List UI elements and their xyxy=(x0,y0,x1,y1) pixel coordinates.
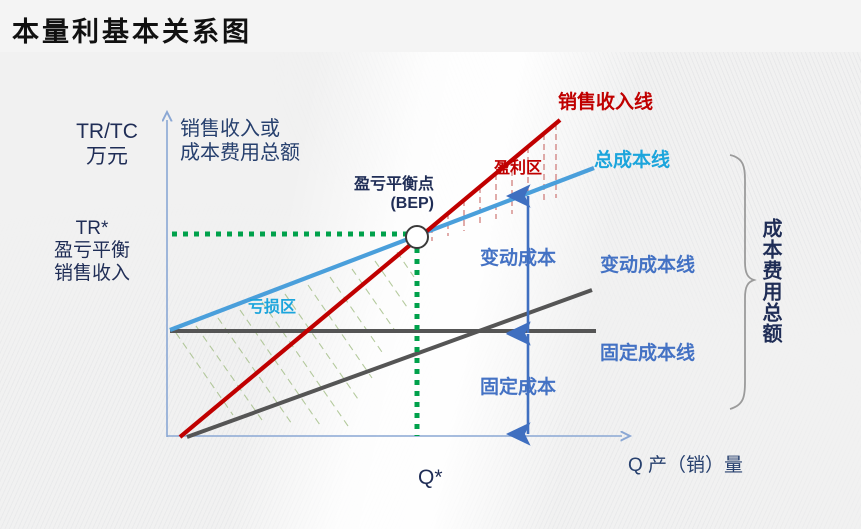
chart-canvas: 本量利基本关系图 xyxy=(0,0,861,529)
y-axis-title-line2: 成本费用总额 xyxy=(180,142,300,166)
cost-total-brace xyxy=(730,155,754,409)
y-axis-breakeven-line3: 销售收入 xyxy=(30,263,154,285)
cost-total-bracket-label: 成本费用总额 xyxy=(760,218,780,344)
bep-annotation-line1: 盈亏平衡点 xyxy=(330,176,434,195)
y-axis-breakeven-line2: 盈亏平衡 xyxy=(30,240,154,262)
revenue-line-label: 销售收入线 xyxy=(558,92,653,114)
y-axis-breakeven-label: TR* 盈亏平衡 销售收入 xyxy=(30,218,154,285)
bep-point-marker xyxy=(406,226,428,248)
profit-zone-label: 盈利区 xyxy=(494,160,542,179)
bep-annotation: 盈亏平衡点 (BEP) xyxy=(330,176,434,214)
fixed-cost-measure-label: 固定成本 xyxy=(480,377,556,399)
y-axis-breakeven-line1: TR* xyxy=(30,218,154,240)
bep-annotation-line2: (BEP) xyxy=(330,195,434,214)
x-axis-title: Q 产（销）量 xyxy=(628,455,743,477)
y-axis-title: 销售收入或 成本费用总额 xyxy=(180,118,300,165)
fixed-cost-line-label: 固定成本线 xyxy=(600,343,695,365)
variable-cost-line-label: 变动成本线 xyxy=(600,255,695,277)
y-axis-title-line1: 销售收入或 xyxy=(180,118,300,142)
loss-zone-label: 亏损区 xyxy=(248,299,296,318)
y-axis-unit-line2: 万元 xyxy=(62,145,152,170)
x-axis-breakeven-label: Q* xyxy=(418,466,443,491)
y-axis-unit-label: TR/TC 万元 xyxy=(62,120,152,170)
total-cost-line-label: 总成本线 xyxy=(594,150,670,172)
variable-cost-measure-label: 变动成本 xyxy=(480,248,556,270)
y-axis-unit-line1: TR/TC xyxy=(62,120,152,145)
